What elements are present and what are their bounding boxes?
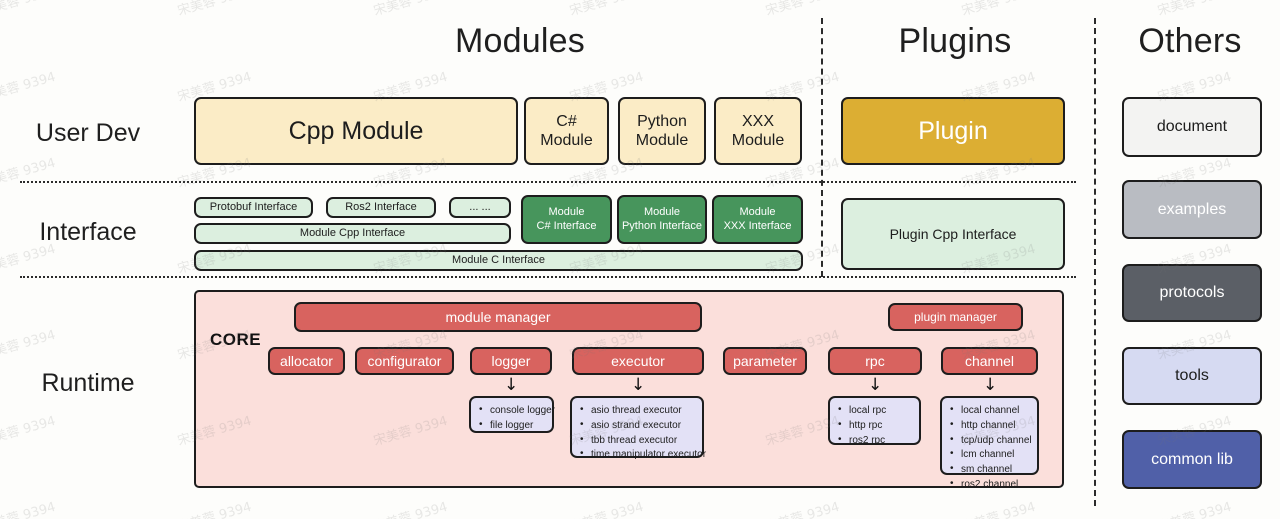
box-label-line2: Python Interface <box>622 220 702 233</box>
watermark-text: 宋美蓉 9394 <box>0 66 57 105</box>
box-label-line1: Module <box>644 206 680 219</box>
box-label: configurator <box>368 353 442 370</box>
list-item: file logger <box>479 419 544 434</box>
box-label: ... ... <box>469 201 490 214</box>
row-label-runtime: Runtime <box>0 369 176 398</box>
divider-plugins-others <box>1094 18 1096 506</box>
box-label: parameter <box>733 353 797 370</box>
box-label: executor <box>611 353 665 370</box>
box-module-cpp-interface[interactable]: Module Cpp Interface <box>194 223 511 244</box>
box-label-line1: C# <box>556 112 576 131</box>
box-plugin-manager[interactable]: plugin manager <box>888 303 1023 331</box>
box-label: channel <box>965 353 1014 370</box>
watermark-text: 宋美蓉 9394 <box>567 0 646 19</box>
box-label: Module C Interface <box>452 254 545 267</box>
watermark-text: 宋美蓉 9394 <box>0 410 57 449</box>
box-label-line2: Module <box>540 131 592 150</box>
list-item: http channel <box>950 419 1029 434</box>
core-label: CORE <box>210 330 261 350</box>
box-module-csharp-interface[interactable]: Module C# Interface <box>521 195 612 244</box>
box-label-line1: Module <box>548 206 584 219</box>
box-label: Plugin Cpp Interface <box>890 226 1017 243</box>
box-module-c-interface[interactable]: Module C Interface <box>194 250 803 271</box>
box-document[interactable]: document <box>1122 97 1262 157</box>
box-label-line2: Module <box>732 131 784 150</box>
box-label-line1: XXX <box>742 112 774 131</box>
list-item: sm channel <box>950 463 1029 478</box>
column-title-others: Others <box>1100 22 1280 61</box>
watermark-text: 宋美蓉 9394 <box>763 0 842 19</box>
list-item: ros2 rpc <box>838 434 911 449</box>
box-label: Cpp Module <box>289 116 424 146</box>
box-label: module manager <box>445 309 550 326</box>
box-label: Ros2 Interface <box>345 201 417 214</box>
box-cpp-module[interactable]: Cpp Module <box>194 97 518 165</box>
architecture-diagram: Modules Plugins Others User Dev Interfac… <box>0 0 1280 519</box>
list-item: lcm channel <box>950 448 1029 463</box>
list-executor-implementations: asio thread executorasio strand executor… <box>570 396 704 458</box>
watermark-text: 宋美蓉 9394 <box>1155 0 1234 19</box>
list-item: local rpc <box>838 404 911 419</box>
box-protocols[interactable]: protocols <box>1122 264 1262 322</box>
watermark-text: 宋美蓉 9394 <box>959 0 1038 19</box>
box-label-line2: XXX Interface <box>724 220 792 233</box>
box-label: protocols <box>1160 283 1225 302</box>
box-label: Module Cpp Interface <box>300 227 405 240</box>
box-protobuf-interface[interactable]: Protobuf Interface <box>194 197 313 218</box>
box-label: plugin manager <box>914 310 997 324</box>
list-channel-implementations: local channelhttp channeltcp/udp channel… <box>940 396 1039 475</box>
box-plugin[interactable]: Plugin <box>841 97 1065 165</box>
watermark-text: 宋美蓉 9394 <box>1155 496 1234 519</box>
watermark-text: 宋美蓉 9394 <box>0 0 57 19</box>
list-item: time manipulator executor <box>580 448 694 463</box>
box-module-xxx-interface[interactable]: Module XXX Interface <box>712 195 803 244</box>
box-label-line2: Module <box>636 131 688 150</box>
watermark-text: 宋美蓉 9394 <box>371 0 450 19</box>
box-csharp-module[interactable]: C# Module <box>524 97 609 165</box>
arrow-logger-down: ↓ <box>504 377 518 394</box>
list-item: asio thread executor <box>580 404 694 419</box>
watermark-text: 宋美蓉 9394 <box>371 496 450 519</box>
row-label-user-dev: User Dev <box>0 119 176 148</box>
box-label-line1: Python <box>637 112 687 131</box>
box-tools[interactable]: tools <box>1122 347 1262 405</box>
box-module-python-interface[interactable]: Module Python Interface <box>617 195 707 244</box>
box-configurator[interactable]: configurator <box>355 347 454 375</box>
box-label: common lib <box>1151 450 1233 469</box>
box-logger[interactable]: logger <box>470 347 552 375</box>
box-parameter[interactable]: parameter <box>723 347 807 375</box>
logger-items-list: console loggerfile logger <box>471 398 552 440</box>
box-label: document <box>1157 117 1227 136</box>
divider-interface-runtime <box>20 276 1076 278</box>
box-channel[interactable]: channel <box>941 347 1038 375</box>
box-label: examples <box>1158 200 1226 219</box>
column-title-plugins: Plugins <box>830 22 1080 61</box>
watermark-text: 宋美蓉 9394 <box>763 496 842 519</box>
list-item: http rpc <box>838 419 911 434</box>
box-xxx-module[interactable]: XXX Module <box>714 97 802 165</box>
watermark-text: 宋美蓉 9394 <box>175 0 254 19</box>
watermark-text: 宋美蓉 9394 <box>567 496 646 519</box>
executor-items-list: asio thread executorasio strand executor… <box>572 398 702 469</box>
row-label-interface: Interface <box>0 218 176 247</box>
list-rpc-implementations: local rpchttp rpcros2 rpc <box>828 396 921 445</box>
box-plugin-cpp-interface[interactable]: Plugin Cpp Interface <box>841 198 1065 270</box>
watermark-text: 宋美蓉 9394 <box>0 152 57 191</box>
box-executor[interactable]: executor <box>572 347 704 375</box>
channel-items-list: local channelhttp channeltcp/udp channel… <box>942 398 1037 499</box>
arrow-executor-down: ↓ <box>631 377 645 394</box>
box-label-line1: Module <box>739 206 775 219</box>
box-label: Protobuf Interface <box>210 201 297 214</box>
arrow-rpc-down: ↓ <box>868 377 882 394</box>
box-examples[interactable]: examples <box>1122 180 1262 239</box>
watermark-text: 宋美蓉 9394 <box>959 496 1038 519</box>
box-label: rpc <box>865 353 884 370</box>
list-item: ros2 channel <box>950 478 1029 493</box>
box-allocator[interactable]: allocator <box>268 347 345 375</box>
watermark-text: 宋美蓉 9394 <box>0 324 57 363</box>
box-rpc[interactable]: rpc <box>828 347 922 375</box>
box-python-module[interactable]: Python Module <box>618 97 706 165</box>
list-item: tbb thread executor <box>580 434 694 449</box>
box-common-lib[interactable]: common lib <box>1122 430 1262 489</box>
rpc-items-list: local rpchttp rpcros2 rpc <box>830 398 919 454</box>
box-more-interface[interactable]: ... ... <box>449 197 511 218</box>
list-item: asio strand executor <box>580 419 694 434</box>
box-label: logger <box>492 353 531 370</box>
box-label-line2: C# Interface <box>537 220 597 233</box>
box-label: allocator <box>280 353 333 370</box>
box-label: Plugin <box>918 116 988 146</box>
list-item: console logger <box>479 404 544 419</box>
watermark-text: 宋美蓉 9394 <box>0 496 57 519</box>
column-title-modules: Modules <box>200 22 840 61</box>
list-item: tcp/udp channel <box>950 434 1029 449</box>
divider-modules-plugins <box>821 18 823 277</box>
box-ros2-interface[interactable]: Ros2 Interface <box>326 197 436 218</box>
list-logger-implementations: console loggerfile logger <box>469 396 554 433</box>
box-label: tools <box>1175 366 1209 385</box>
box-module-manager[interactable]: module manager <box>294 302 702 332</box>
arrow-channel-down: ↓ <box>983 377 997 394</box>
divider-user-dev-interface <box>20 181 1076 183</box>
list-item: local channel <box>950 404 1029 419</box>
watermark-text: 宋美蓉 9394 <box>175 496 254 519</box>
